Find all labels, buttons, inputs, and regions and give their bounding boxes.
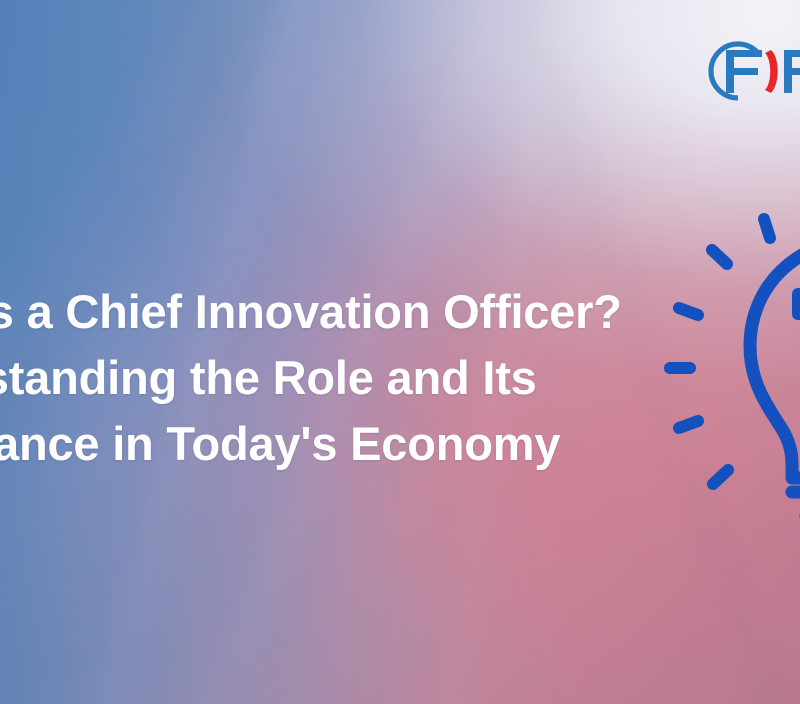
- brand-logo[interactable]: [676, 33, 800, 109]
- ray-icon-3: [679, 308, 698, 315]
- logo-letter-f-first-icon: [726, 50, 762, 93]
- logo-letter-f-second-icon: [784, 50, 800, 93]
- headline: What is a Chief Innovation Officer? Unde…: [0, 279, 678, 477]
- headline-line-1: What is a Chief Innovation Officer?: [0, 279, 678, 345]
- logo-bracket-icon: [765, 50, 778, 93]
- hero-banner: What is a Chief Innovation Officer? Unde…: [0, 0, 800, 704]
- ray-icon-6: [713, 470, 728, 484]
- logo-mark-icon: [676, 33, 800, 109]
- headline-line-2: Understanding the Role and Its: [0, 345, 678, 411]
- ray-icon-2: [712, 250, 727, 264]
- ray-icon-1: [764, 219, 770, 238]
- bulb-glass-outline-icon: [750, 241, 800, 478]
- headline-line-3: Importance in Today's Economy: [0, 411, 678, 477]
- ray-icon-5: [679, 421, 698, 428]
